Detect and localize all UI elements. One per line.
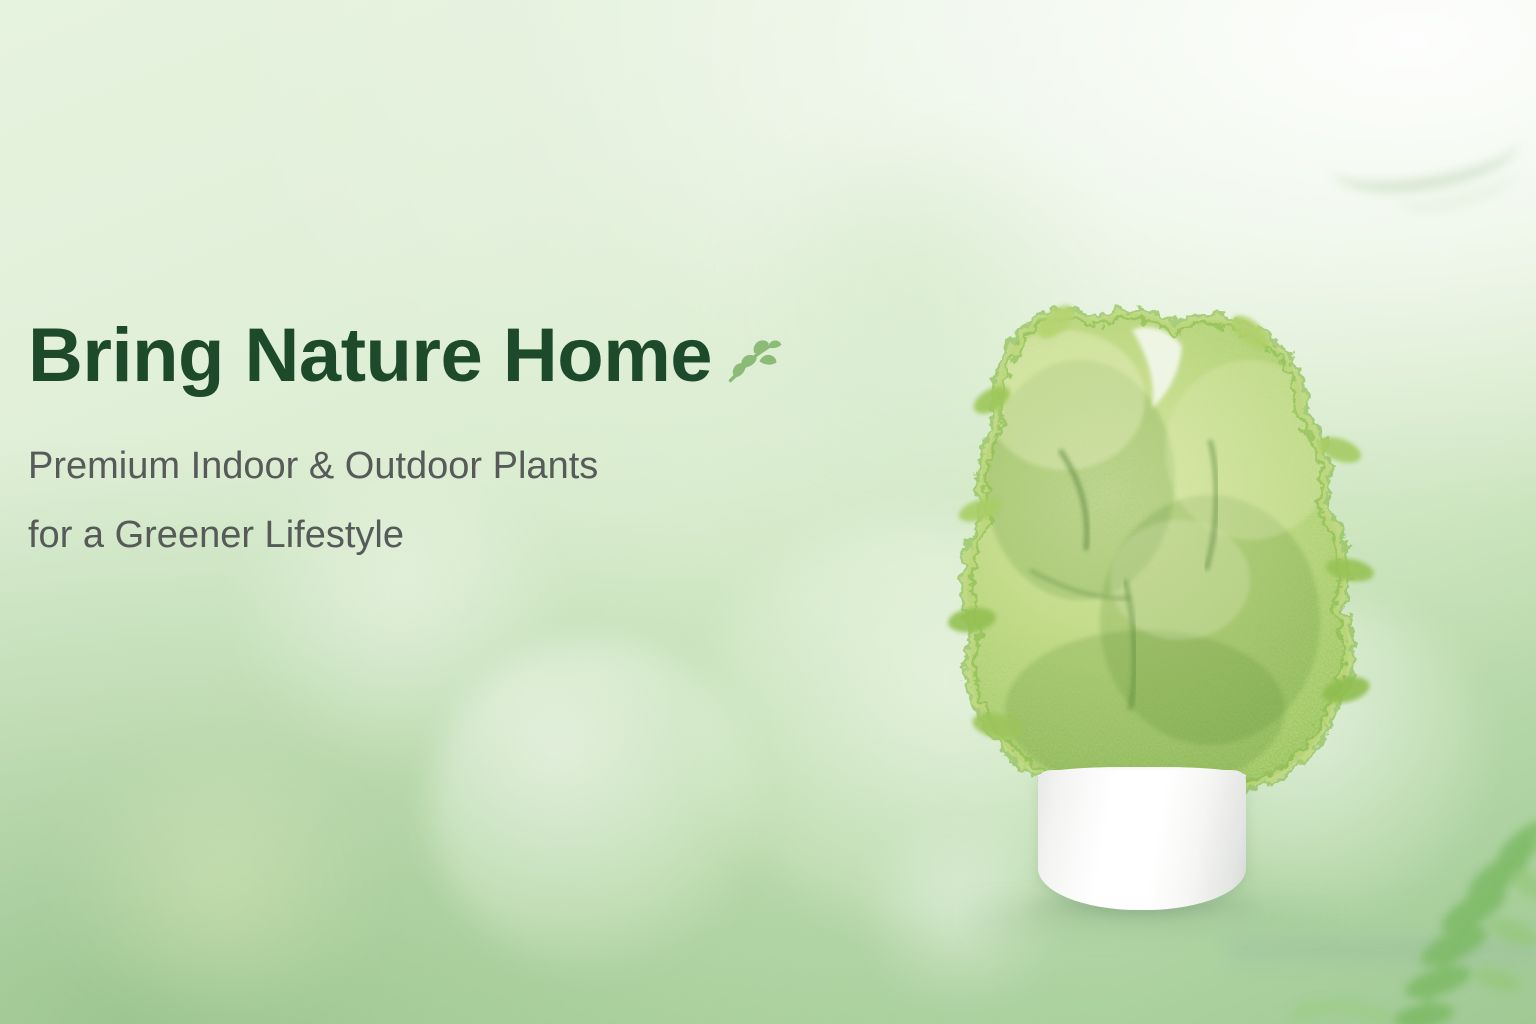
subtitle-line-1: Premium Indoor & Outdoor Plants	[28, 432, 868, 501]
plant-pot	[1038, 770, 1246, 910]
page-title: Bring Nature Home	[28, 318, 712, 394]
headline-row: Bring Nature Home	[28, 318, 868, 394]
bokeh-blob	[60, 760, 380, 1000]
blurred-fern-foliage	[1266, 804, 1536, 1024]
hero-banner: Bring Nature Home Premium Indoor & Outdo…	[0, 0, 1536, 1024]
bokeh-blob	[430, 640, 760, 970]
topiary-foliage	[880, 150, 1420, 830]
hero-subtitle: Premium Indoor & Outdoor Plants for a Gr…	[28, 432, 868, 570]
subtitle-line-2: for a Greener Lifestyle	[28, 501, 868, 570]
hero-copy: Bring Nature Home Premium Indoor & Outdo…	[28, 318, 868, 570]
leaf-sprig-icon	[726, 330, 784, 388]
